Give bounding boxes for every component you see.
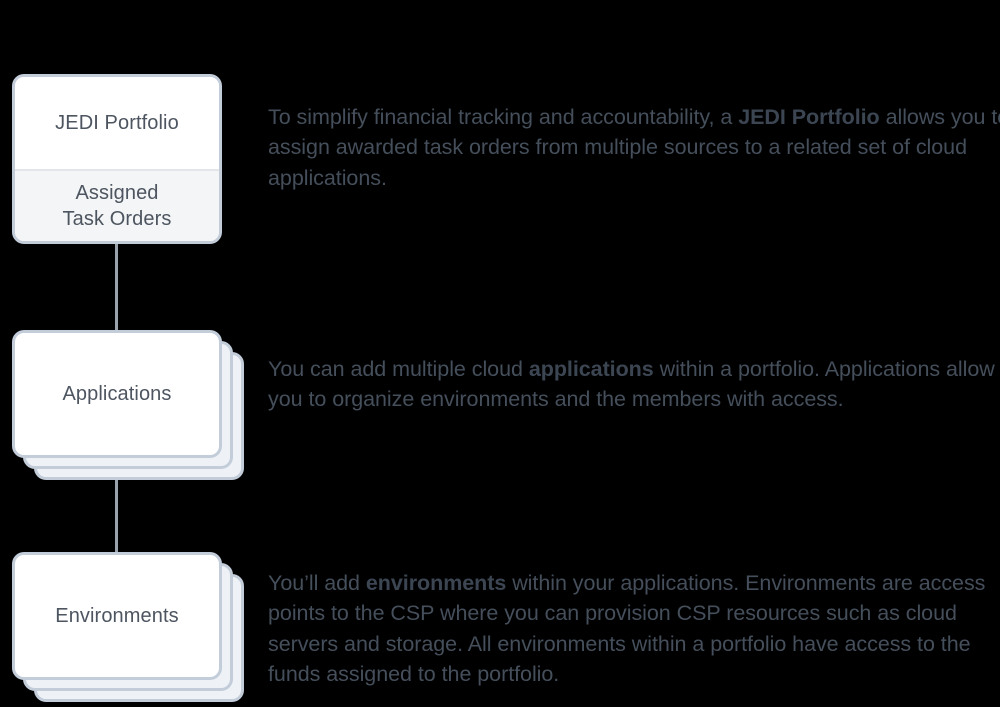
text-segment-1: environments <box>366 571 506 595</box>
node-jedi-portfolio[interactable]: JEDI Portfolio Assigned Task Orders <box>12 74 222 244</box>
applications-description: You can add multiple cloud applications … <box>268 354 1000 415</box>
text-segment-0: You can add multiple cloud <box>268 357 529 381</box>
assigned-task-orders-line-2: Task Orders <box>63 208 172 230</box>
diagram-canvas: JEDI Portfolio Assigned Task Orders Appl… <box>0 0 1000 707</box>
connector-portfolio-to-applications <box>115 243 118 330</box>
assigned-task-orders-line-1: Assigned <box>75 182 158 204</box>
text-segment-1: JEDI Portfolio <box>738 105 879 129</box>
node-jedi-portfolio-label: JEDI Portfolio <box>55 112 179 135</box>
text-segment-0: You’ll add <box>268 571 366 595</box>
node-environments[interactable]: Environments <box>12 552 244 702</box>
node-applications-label: Applications <box>62 383 171 406</box>
node-assigned-task-orders: Assigned Task Orders <box>15 171 219 241</box>
node-environments-stack-layer-1[interactable]: Environments <box>12 552 222 680</box>
text-segment-1: applications <box>529 357 654 381</box>
node-applications-stack-layer-1[interactable]: Applications <box>12 330 222 458</box>
node-environments-label: Environments <box>55 605 178 628</box>
portfolio-description: To simplify financial tracking and accou… <box>268 102 1000 194</box>
environments-description: You’ll add environments within your appl… <box>268 568 1000 690</box>
node-applications[interactable]: Applications <box>12 330 244 480</box>
text-segment-0: To simplify financial tracking and accou… <box>268 105 738 129</box>
node-assigned-task-orders-label: Assigned Task Orders <box>63 180 172 233</box>
node-jedi-portfolio-header: JEDI Portfolio <box>15 77 219 169</box>
